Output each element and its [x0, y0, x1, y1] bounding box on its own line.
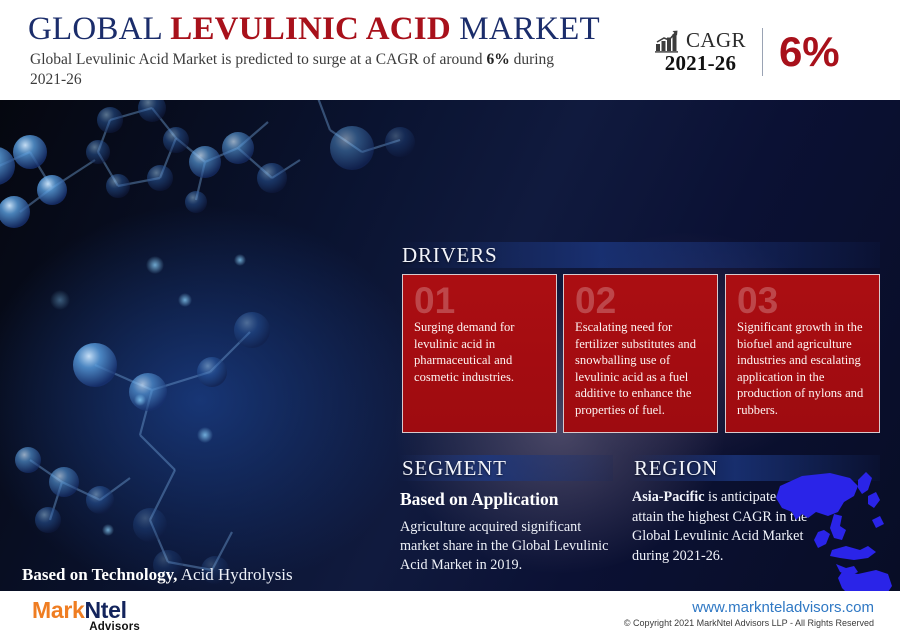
driver-number: 03	[737, 285, 868, 317]
title-part-2: MARKET	[451, 11, 600, 47]
driver-text: Surging demand for levulinic acid in pha…	[414, 319, 545, 385]
brand-logo-ntel: Ntel	[85, 597, 127, 623]
segment-text: Agriculture acquired significant market …	[400, 518, 615, 575]
brand-logo-mark: Mark	[32, 597, 85, 623]
driver-text: Significant growth in the biofuel and ag…	[737, 319, 868, 418]
region-highlight: Asia-Pacific	[632, 489, 705, 505]
body-panel: DRIVERS 01 Surging demand for levulinic …	[0, 100, 900, 591]
segment-subheading: Based on Application	[400, 489, 559, 510]
title-accent: LEVULINIC ACID	[170, 11, 451, 47]
header: GLOBAL LEVULINIC ACID MARKET Global Levu…	[0, 0, 900, 100]
footer: MarkNtel Advisors www.marknteladvisors.c…	[0, 591, 900, 638]
brand-logo[interactable]: MarkNtel Advisors	[32, 598, 140, 633]
drivers-heading-label: DRIVERS	[398, 243, 497, 268]
driver-number: 01	[414, 285, 545, 317]
infographic-root: GLOBAL LEVULINIC ACID MARKET Global Levu…	[0, 0, 900, 638]
subtitle: Global Levulinic Acid Market is predicte…	[30, 50, 570, 90]
subtitle-pre: Global Levulinic Acid Market is predicte…	[30, 51, 486, 68]
subtitle-cagr-value: 6%	[486, 51, 509, 68]
segment-heading-label: SEGMENT	[398, 456, 507, 481]
cagr-icon-label-row: CAGR	[655, 28, 746, 53]
page-title: GLOBAL LEVULINIC ACID MARKET	[28, 11, 600, 48]
cagr-badge: CAGR 2021-26 6%	[655, 27, 840, 77]
website-link[interactable]: www.marknteladvisors.com	[624, 599, 874, 616]
driver-card: 03 Significant growth in the biofuel and…	[725, 274, 880, 433]
driver-text: Escalating need for fertilizer substitut…	[575, 319, 706, 418]
cagr-label-group: CAGR 2021-26	[655, 28, 746, 76]
region-heading-label: REGION	[630, 456, 718, 481]
technology-text: Based on Technology, Acid Hydrolysis reg…	[22, 562, 352, 591]
cagr-years: 2021-26	[665, 51, 736, 76]
technology-bold: Based on Technology,	[22, 565, 177, 584]
driver-number: 02	[575, 285, 706, 317]
footer-right: www.marknteladvisors.com © Copyright 202…	[624, 599, 874, 628]
title-part-1: GLOBAL	[28, 11, 170, 47]
cagr-label: CAGR	[686, 28, 746, 53]
segment-heading: SEGMENT	[398, 455, 613, 481]
cagr-divider	[762, 28, 763, 76]
brand-logo-name: MarkNtel	[32, 598, 140, 622]
asia-pacific-map-icon	[772, 468, 898, 591]
copyright-text: © Copyright 2021 MarkNtel Advisors LLP -…	[624, 618, 874, 628]
driver-card: 01 Surging demand for levulinic acid in …	[402, 274, 557, 433]
driver-card: 02 Escalating need for fertilizer substi…	[563, 274, 718, 433]
drivers-heading: DRIVERS	[398, 242, 880, 268]
cagr-value: 6%	[779, 31, 840, 73]
bar-chart-growth-icon	[655, 29, 681, 53]
